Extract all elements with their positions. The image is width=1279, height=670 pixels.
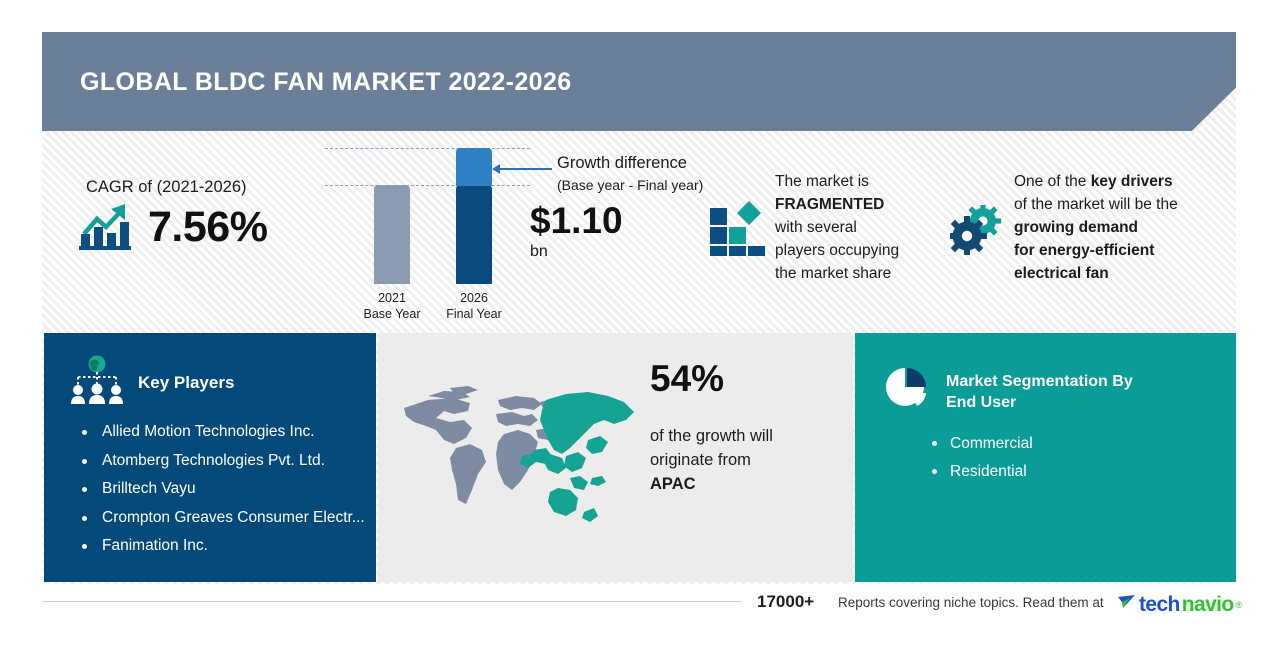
key-players-header: Key Players [70, 355, 234, 410]
list-item: Atomberg Technologies Pvt. Ltd. [80, 447, 380, 476]
list-item: Brilltech Vayu [80, 475, 380, 504]
list-item: Fanimation Inc. [80, 532, 380, 561]
technavio-logo-navio: navio [1182, 593, 1234, 617]
cagr-group: 7.56% [78, 200, 267, 255]
cagr-value: 7.56% [148, 203, 267, 252]
key-drivers-bold-line3: electrical fan [1014, 265, 1109, 282]
list-item: Commercial [930, 430, 1033, 458]
cagr-label: CAGR of (2021-2026) [86, 178, 247, 197]
key-drivers-line1-pre: One of the [1014, 173, 1091, 190]
fragmented-line1: The market is [775, 173, 869, 190]
key-drivers-text: One of the key drivers of the market wil… [1014, 170, 1229, 285]
footer-tagline: Reports covering niche topics. Read them… [838, 595, 1104, 610]
pixel-blocks-icon [709, 200, 767, 256]
fragmented-line4: the market share [775, 265, 891, 282]
key-players-list: Allied Motion Technologies Inc. Atomberg… [80, 418, 380, 561]
bar-final-year-growth [456, 148, 492, 186]
bar-final-year-base [456, 185, 492, 284]
guide-line-mid [325, 185, 530, 186]
list-item: Allied Motion Technologies Inc. [80, 418, 380, 447]
growth-difference-title: Growth difference [557, 154, 687, 172]
gears-icon [950, 205, 1008, 255]
globe-org-chart-icon [70, 355, 124, 410]
fragmented-line3: players occupying [775, 242, 899, 259]
bar-label-base-year: 2021 Base Year [347, 290, 437, 322]
list-item: Residential [930, 458, 1033, 486]
technavio-arrow-icon [1117, 592, 1137, 617]
technavio-logo[interactable]: technavio® [1117, 592, 1242, 617]
apac-description: of the growth will originate from APAC [650, 424, 840, 496]
pie-chart-icon [884, 365, 930, 416]
key-drivers-line2: of the market will be the [1014, 196, 1178, 213]
infographic-canvas: GLOBAL BLDC FAN MARKET 2022-2026 CAGR of… [0, 0, 1279, 670]
growth-difference-arrow-icon [492, 164, 552, 174]
footer-divider [42, 601, 742, 602]
footer-report-count: 17000+ [757, 592, 814, 612]
fragmented-emphasis: FRAGMENTED [775, 196, 884, 213]
key-drivers-bold-line2: for energy-efficient [1014, 242, 1154, 259]
map-highlight-apac [520, 392, 634, 522]
technavio-logo-tech: tech [1139, 593, 1180, 617]
key-drivers-bold-line1: growing demand [1014, 219, 1138, 236]
fragmented-text: The market is FRAGMENTED with several pl… [775, 170, 940, 285]
apac-line1: of the growth will [650, 427, 773, 445]
page-title: GLOBAL BLDC FAN MARKET 2022-2026 [80, 68, 572, 97]
key-drivers-line1-bold: key drivers [1091, 173, 1173, 190]
segmentation-list: Commercial Residential [930, 430, 1033, 486]
growth-difference-subtitle: (Base year - Final year) [557, 177, 703, 193]
segmentation-title-line1: Market Segmentation By [946, 373, 1133, 390]
segmentation-header: Market Segmentation By End User [884, 365, 1176, 416]
bar-chart-growth-icon [78, 200, 134, 255]
segmentation-title-line2: End User [946, 394, 1016, 411]
world-map [398, 378, 648, 548]
apac-percent: 54% [650, 358, 724, 400]
bar-label-final-year: 2026 Final Year [429, 290, 519, 322]
fragmented-line2: with several [775, 219, 857, 236]
segmentation-title: Market Segmentation By End User [946, 365, 1176, 413]
technavio-logo-tm: ® [1236, 600, 1243, 610]
guide-line-top [325, 148, 530, 149]
bar-base-year [374, 185, 410, 284]
growth-difference-value: $1.10 [530, 200, 623, 242]
growth-difference-caption: Growth difference (Base year - Final yea… [557, 152, 703, 196]
list-item: Crompton Greaves Consumer Electr... [80, 504, 380, 533]
growth-difference-unit: bn [530, 243, 548, 261]
key-players-title: Key Players [138, 373, 234, 393]
apac-line2: originate from [650, 451, 751, 469]
apac-region-name: APAC [650, 475, 696, 493]
